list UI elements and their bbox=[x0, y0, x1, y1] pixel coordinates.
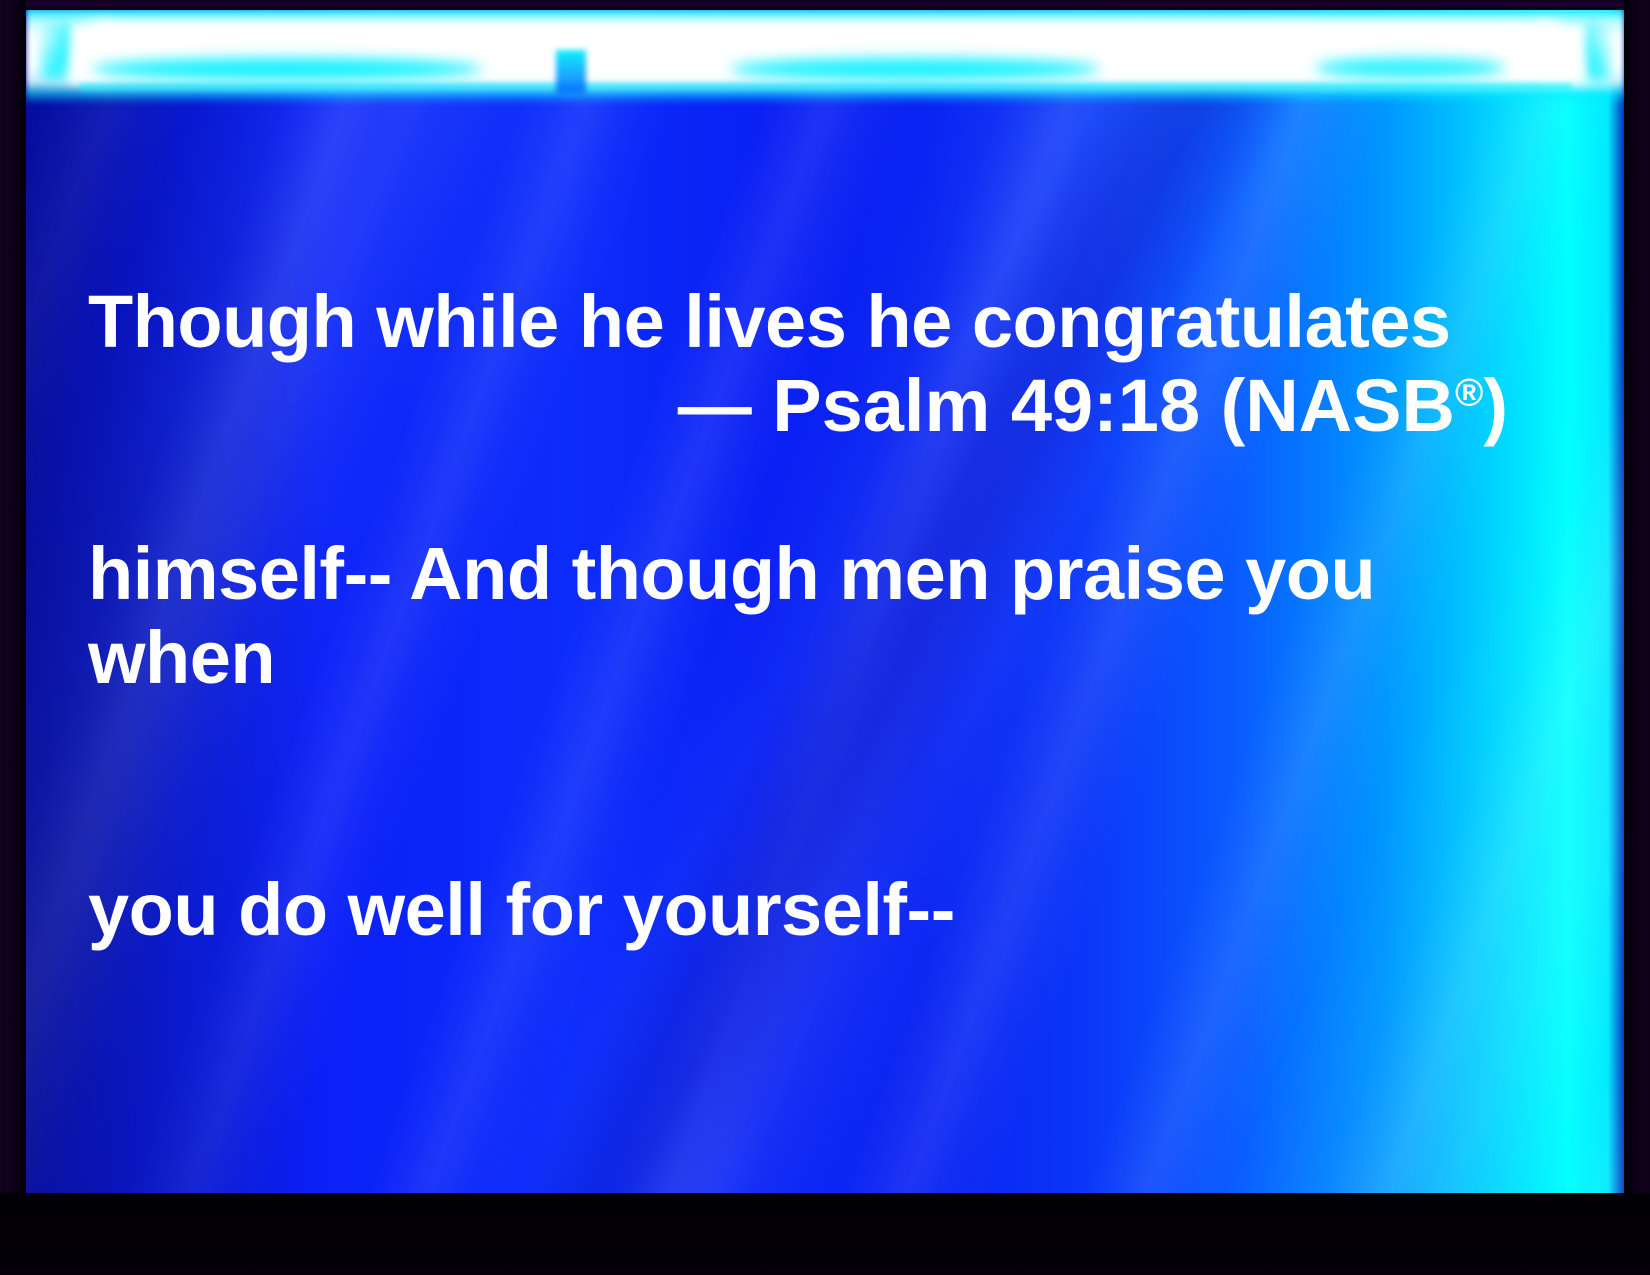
citation-prefix: — Psalm 49:18 (NASB bbox=[678, 364, 1455, 447]
verse-text: Though while he lives he congratulates h… bbox=[88, 112, 1508, 1120]
text-layer: Though while he lives he congratulates h… bbox=[0, 0, 1650, 1275]
verse-slide: Though while he lives he congratulates h… bbox=[0, 0, 1650, 1275]
citation-suffix: ) bbox=[1483, 364, 1508, 447]
verse-line-2: himself-- And though men praise you when bbox=[88, 532, 1508, 700]
verse-citation: — Psalm 49:18 (NASB®) bbox=[88, 364, 1508, 448]
verse-line-3: you do well for yourself-- bbox=[88, 868, 1508, 952]
verse-line-1: Though while he lives he congratulates bbox=[88, 280, 1508, 364]
registered-trademark-icon: ® bbox=[1455, 371, 1483, 414]
